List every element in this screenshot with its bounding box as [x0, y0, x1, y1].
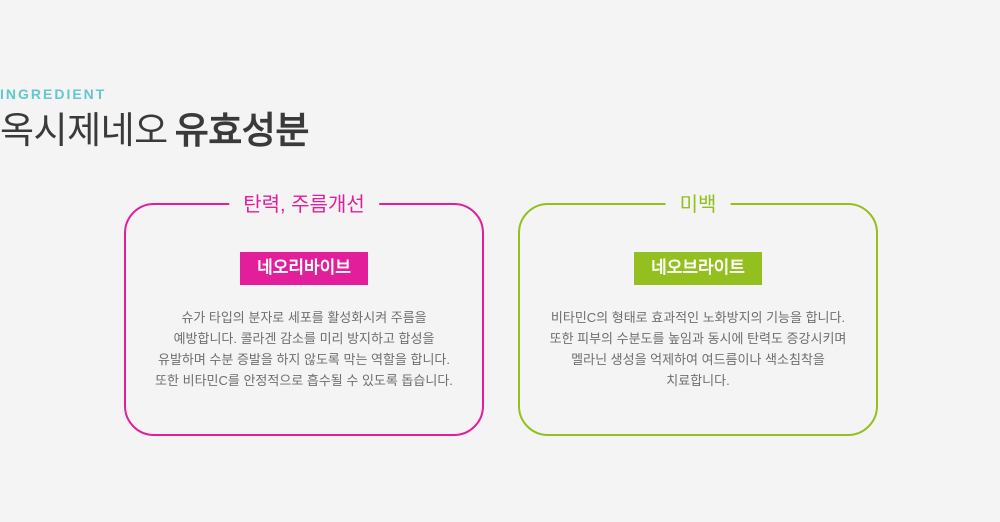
ingredient-description: 슈가 타입의 분자로 세포를 활성화시켜 주름을 예방합니다. 콜라겐 감소를 … — [154, 307, 454, 391]
card-title-whitening: 미백 — [666, 192, 731, 218]
ingredient-name-badge: 네오브라이트 — [634, 252, 762, 285]
page-heading: INGREDIENT 옥시제네오유효성분 — [0, 86, 309, 154]
ingredient-description: 비타민C의 형태로 효과적인 노화방지의 기능을 합니다. 또한 피부의 수분도… — [548, 307, 848, 391]
page-title-brand: 옥시제네오 — [0, 110, 168, 151]
section-eyebrow-label: INGREDIENT — [0, 86, 309, 102]
card-content: 네오리바이브 슈가 타입의 분자로 세포를 활성화시켜 주름을 예방합니다. 콜… — [126, 252, 482, 391]
ingredient-card-neorevive: 탄력, 주름개선 네오리바이브 슈가 타입의 분자로 세포를 활성화시켜 주름을… — [124, 203, 484, 436]
card-title-elasticity-wrinkle: 탄력, 주름개선 — [229, 192, 379, 218]
card-content: 네오브라이트 비타민C의 형태로 효과적인 노화방지의 기능을 합니다. 또한 … — [520, 252, 876, 391]
ingredient-card-neobright: 미백 네오브라이트 비타민C의 형태로 효과적인 노화방지의 기능을 합니다. … — [518, 203, 878, 436]
ingredient-name-badge: 네오리바이브 — [240, 252, 368, 285]
page-title: 옥시제네오유효성분 — [0, 108, 309, 154]
ingredient-card-list: 탄력, 주름개선 네오리바이브 슈가 타입의 분자로 세포를 활성화시켜 주름을… — [124, 203, 878, 437]
page-title-emphasis: 유효성분 — [175, 110, 309, 151]
